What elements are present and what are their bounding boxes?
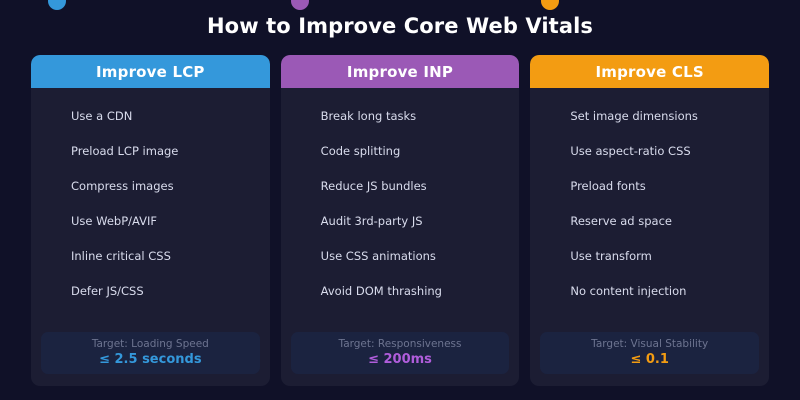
tip-item: Inline critical CSS [71,250,270,263]
target-label: Target: Visual Stability [591,338,708,351]
card-footer-lcp: Target: Loading Speed ≤ 2.5 seconds [41,332,260,374]
decor-dot-inp [291,0,309,10]
tip-item: Compress images [71,180,270,193]
tip-item: Use transform [570,250,769,263]
tip-item: Set image dimensions [570,110,769,123]
decor-dot-lcp [48,0,66,10]
tip-item: Reserve ad space [570,215,769,228]
card-body-cls: Set image dimensions Use aspect-ratio CS… [530,88,769,332]
tip-item: Preload fonts [570,180,769,193]
card-body-lcp: Use a CDN Preload LCP image Compress ima… [31,88,270,332]
target-label: Target: Responsiveness [339,338,462,351]
tip-item: Reduce JS bundles [321,180,520,193]
card-header-lcp: Improve LCP [31,55,270,88]
tip-item: Defer JS/CSS [71,285,270,298]
tip-item: Use a CDN [71,110,270,123]
tip-item: Use CSS animations [321,250,520,263]
decor-dot-cls [541,0,559,10]
tip-item: Use WebP/AVIF [71,215,270,228]
card-inp: Improve INP Break long tasks Code splitt… [281,55,520,386]
cards-row: Improve LCP Use a CDN Preload LCP image … [31,55,769,386]
target-value: ≤ 200ms [368,352,432,368]
target-value: ≤ 2.5 seconds [99,352,201,368]
target-label: Target: Loading Speed [92,338,209,351]
page-title: How to Improve Core Web Vitals [0,13,800,39]
tip-item: Break long tasks [321,110,520,123]
tip-item: Avoid DOM thrashing [321,285,520,298]
card-header-inp: Improve INP [281,55,520,88]
tip-item: Audit 3rd-party JS [321,215,520,228]
card-body-inp: Break long tasks Code splitting Reduce J… [281,88,520,332]
tip-item: No content injection [570,285,769,298]
tip-item: Preload LCP image [71,145,270,158]
card-lcp: Improve LCP Use a CDN Preload LCP image … [31,55,270,386]
target-value: ≤ 0.1 [630,352,668,368]
tip-item: Use aspect-ratio CSS [570,145,769,158]
tip-item: Code splitting [321,145,520,158]
card-footer-inp: Target: Responsiveness ≤ 200ms [291,332,510,374]
card-footer-cls: Target: Visual Stability ≤ 0.1 [540,332,759,374]
card-header-cls: Improve CLS [530,55,769,88]
card-cls: Improve CLS Set image dimensions Use asp… [530,55,769,386]
